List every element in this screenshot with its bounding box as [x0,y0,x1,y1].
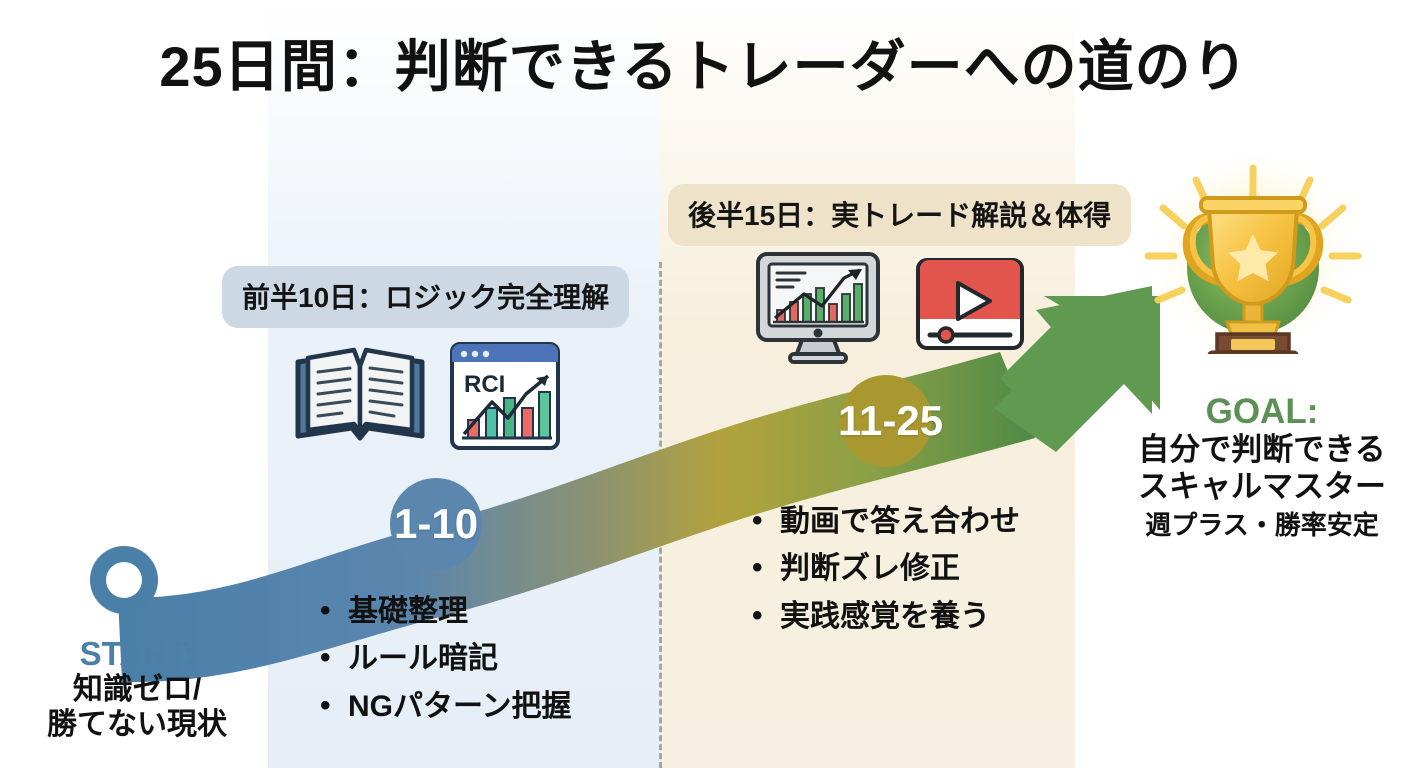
phase-bullets-second-half: 動画で答え合わせ 判断ズレ修正 実践感覚を養う [752,498,1020,640]
start-heading: START: [22,636,252,673]
goal-subtext: 週プラス・勝率安定 [1118,509,1406,543]
infographic-canvas: 25日間：判断できるトレーダーへの道のり 前半10日：ロジック完全理解 後半15… [0,0,1408,768]
rci-chart-window-icon: RCI [448,338,562,459]
list-item: 判断ズレ修正 [752,545,1020,592]
phase-bullets-first-half: 基礎整理 ルール暗記 NGパターン把握 [320,588,572,730]
start-line-1: 知識ゼロ/ [22,673,252,708]
goal-heading: GOAL: [1118,392,1406,432]
goal-block: GOAL: 自分で判断できる スキャルマスター 週プラス・勝率安定 [1118,392,1406,543]
phase-label-first-half: 前半10日：ロジック完全理解 [222,266,629,328]
goal-line-2: スキャルマスター [1118,469,1406,506]
page-title: 25日間：判断できるトレーダーへの道のり [0,22,1408,103]
start-line-2: 勝てない現状 [22,708,252,743]
phase-label-second-half: 後半15日：実トレード解説＆体得 [668,184,1131,246]
list-item: 実践感覚を養う [752,593,1020,640]
stage-number-1-10: 1-10 [394,500,478,548]
open-book-icon [292,340,428,457]
goal-line-1: 自分で判断できる [1118,432,1406,469]
video-player-icon [914,256,1026,357]
trophy-icon [1150,148,1356,359]
list-item: 動画で答え合わせ [752,498,1020,545]
list-item: 基礎整理 [320,588,572,635]
desktop-monitor-chart-icon [752,248,884,371]
rci-icon-text: RCI [464,371,505,398]
list-item: NGパターン把握 [320,683,572,730]
stage-number-11-25: 11-25 [838,397,943,445]
start-block: START: 知識ゼロ/ 勝てない現状 [22,636,252,743]
list-item: ルール暗記 [320,635,572,682]
